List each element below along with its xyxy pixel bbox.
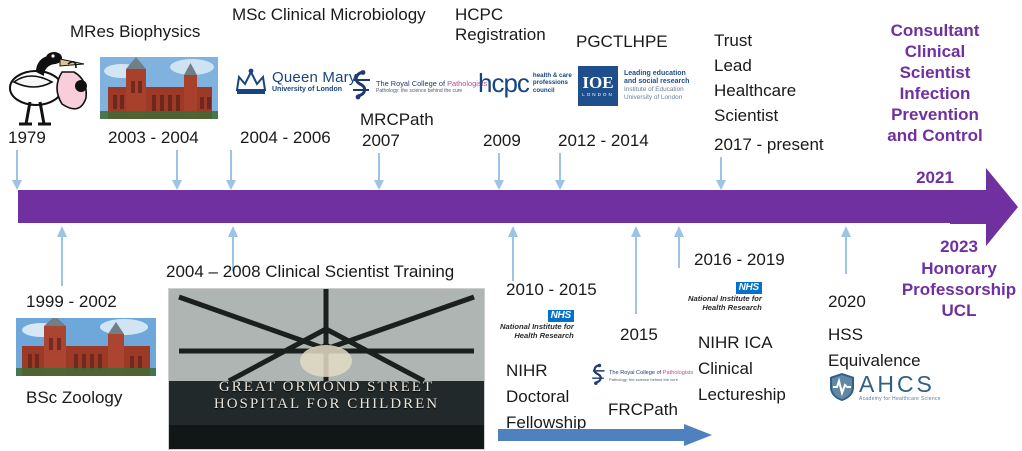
ioe-mark-sub: LONDON	[582, 91, 614, 98]
rcpath-serpent-icon	[350, 70, 372, 104]
entry-title-honorary: Honorary Professorship UCL	[898, 258, 1020, 321]
hospital-sign-caption: GREAT ORMOND STREET HOSPITAL FOR CHILDRE…	[169, 379, 484, 413]
ahcs-logo: AHCS Academy for Healthcare Science	[828, 372, 941, 402]
nhs-box: NHS	[548, 310, 574, 322]
ioe-t1: Leading education	[624, 70, 689, 78]
rcpath2-line1: The Royal College of Pathologists	[609, 370, 693, 377]
entry-title-hcpc: HCPC Registration	[455, 5, 560, 45]
timeline-infographic: 1979 MRes Biophysics 2003 - 2004 MSc Cli…	[0, 0, 1022, 448]
rcpath-line1: The Royal College of Pathologists	[376, 79, 487, 88]
ioe-mark-letters: IOE	[582, 74, 613, 91]
entry-title-hss: HSS Equivalence	[828, 322, 938, 374]
queen-mary-name: Queen Mary	[272, 70, 357, 85]
progress-arrow-icon	[498, 424, 712, 446]
rcpath-line2: Pathology: the science behind the cure	[376, 88, 487, 95]
date-label-mres: 2003 - 2004	[108, 128, 199, 148]
connector-down-2017	[714, 157, 728, 190]
entry-title-mres: MRes Biophysics	[70, 22, 200, 42]
ahcs-wordmark: AHCS	[859, 373, 941, 396]
timeline-arrowhead-icon	[950, 168, 1018, 246]
connector-down-2012	[553, 153, 567, 190]
date-label-hcpc: 2009	[483, 131, 521, 151]
hcpc-sub3: council	[533, 87, 572, 94]
hcpc-logo: hcpc health & care professions council	[478, 70, 572, 96]
connector-down-1979	[10, 150, 24, 190]
connector-up-2020	[839, 226, 853, 274]
date-label-hss: 2020	[828, 292, 866, 312]
date-label-nihr-ica: 2016 - 2019	[694, 250, 785, 270]
connector-up-2010	[506, 226, 520, 281]
entry-title-consultant: Consultant Clinical Scientist Infection …	[860, 20, 1010, 146]
university-building-photo	[100, 57, 218, 119]
stork-icon	[6, 42, 92, 130]
connector-down-2009	[492, 153, 506, 190]
connector-up-2015	[629, 226, 643, 314]
connector-down-2007	[372, 153, 386, 190]
entry-title-clinical-training: 2004 – 2008 Clinical Scientist Training	[166, 262, 454, 282]
date-label-nihr-doctoral: 2010 - 2015	[506, 280, 597, 300]
date-label-trust-lead: 2017 - present	[714, 135, 824, 155]
entry-title-pgctlhpe: PGCTLHPE	[576, 32, 668, 52]
connector-up-2016	[672, 226, 686, 268]
connector-up-1999	[55, 226, 69, 286]
entry-title-trust-lead: Trust Lead Healthcare Scientist	[714, 28, 834, 128]
date-label-mrcpath: 2007	[362, 131, 400, 151]
connector-down-2003	[170, 150, 184, 190]
ioe-mark: IOE LONDON	[578, 66, 618, 106]
great-ormond-street-hospital-photo: GREAT ORMOND STREET HOSPITAL FOR CHILDRE…	[168, 288, 485, 450]
rcpath2-line2: Pathology: the science behind the cure	[609, 377, 693, 383]
timeline-bar	[18, 190, 958, 223]
nihr-line2: Health Research	[514, 331, 574, 340]
ahcs-sub: Academy for Healthcare Science	[859, 396, 941, 402]
nihr-nhs-logo-2: NHS National Institute for Health Resear…	[688, 282, 762, 312]
date-label-birth: 1979	[8, 128, 46, 148]
entry-title-msc: MSc Clinical Microbiology	[232, 5, 426, 25]
hcpc-wordmark: hcpc	[478, 70, 529, 96]
entry-title-mrcpath: MRCPath	[360, 110, 434, 130]
ioe-t4: University of London	[624, 94, 689, 102]
institute-of-education-london-logo: IOE LONDON Leading education and social …	[578, 66, 689, 106]
royal-college-of-pathologists-logo-2: The Royal College of Pathologists Pathol…	[590, 363, 693, 389]
royal-college-of-pathologists-logo: The Royal College of Pathologists Pathol…	[350, 70, 487, 104]
nihr-line1: National Institute for	[500, 322, 574, 331]
crown-icon	[234, 68, 268, 96]
nihr2-line2: Health Research	[702, 303, 762, 312]
date-label-frcpath: 2015	[620, 325, 658, 345]
nihr2-line1: National Institute for	[688, 294, 762, 303]
date-label-honorary: 2023	[900, 236, 1018, 257]
entry-title-bsc: BSc Zoology	[26, 388, 122, 408]
entry-title-frcpath: FRCPath	[608, 400, 678, 420]
hcpc-sub2: professions	[533, 79, 572, 86]
date-label-pgctlhpe: 2012 - 2014	[558, 131, 649, 151]
nihr-nhs-logo: NHS National Institute for Health Resear…	[500, 310, 574, 340]
date-label-msc: 2004 - 2006	[240, 128, 331, 148]
ioe-t3: Institute of Education	[624, 86, 689, 94]
hcpc-sub1: health & care	[533, 72, 572, 79]
university-building-photo-2	[16, 318, 156, 376]
date-label-bsc: 1999 - 2002	[26, 292, 117, 312]
shield-heartbeat-icon	[828, 372, 856, 402]
rcpath-serpent-icon-2	[590, 363, 606, 389]
entry-title-nihr-ica: NIHR ICA Clinical Lectureship	[698, 330, 818, 408]
nhs-box-2: NHS	[736, 282, 762, 294]
queen-mary-university-of-london-logo: Queen Mary University of London	[234, 68, 357, 96]
connector-down-2004-2006	[224, 150, 238, 190]
queen-mary-sub: University of London	[272, 85, 357, 94]
ioe-t2: and social research	[624, 78, 689, 86]
